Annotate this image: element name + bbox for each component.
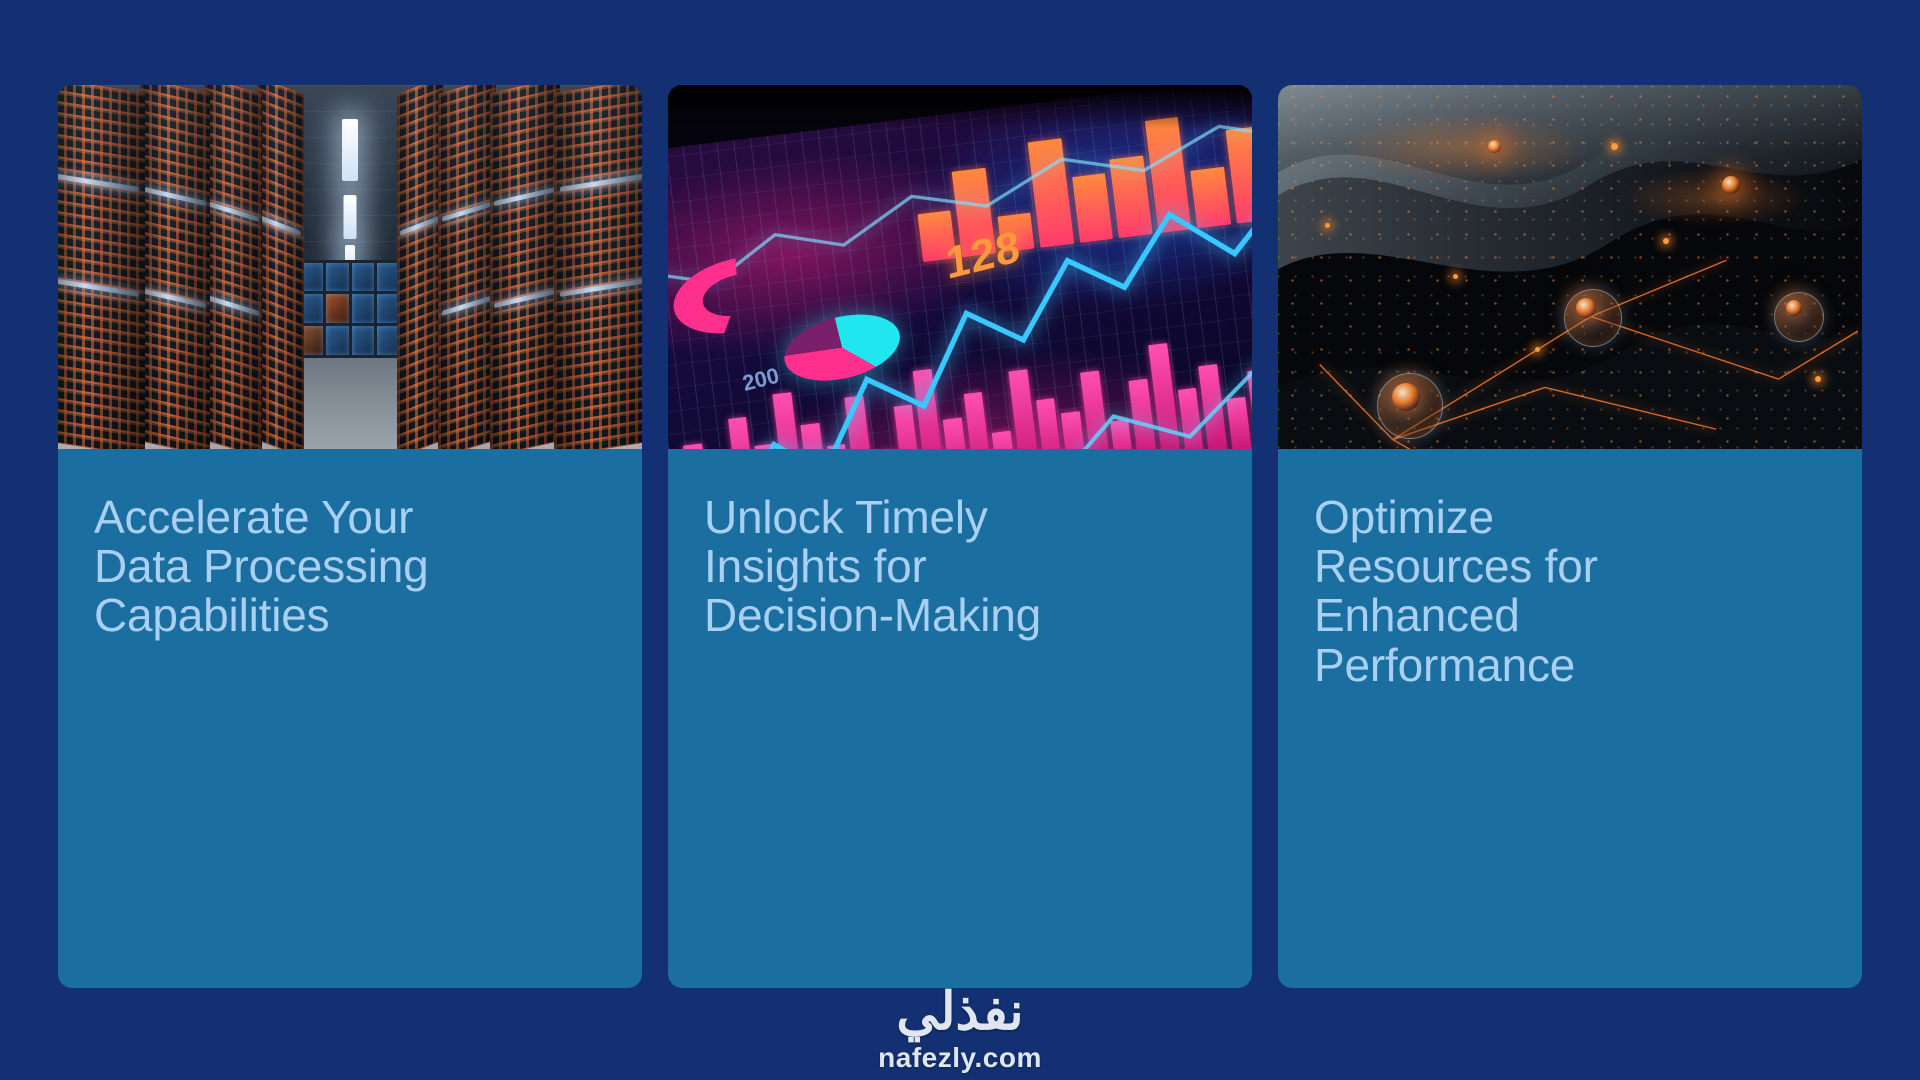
monitor-screen [300, 294, 323, 323]
server-rack [397, 85, 444, 449]
node-glow [1488, 140, 1501, 153]
card-title: Unlock Timely Insights for Decision-Maki… [704, 493, 1216, 641]
analytics-dashboard-scene: 128 V52 200 [668, 85, 1252, 449]
card-grid: Accelerate Your Data Processing Capabili… [58, 85, 1862, 988]
ceiling-lamp-icon [344, 195, 357, 239]
server-rack [438, 85, 496, 449]
node-glow [1722, 176, 1740, 194]
server-rack [490, 85, 560, 449]
card-image-network-nodes [1278, 85, 1862, 449]
ceiling-lamp-icon [342, 119, 358, 181]
card-body: Unlock Timely Insights for Decision-Maki… [668, 449, 1252, 988]
card-insights[interactable]: 128 V52 200 Unlock Timely Insights for D… [668, 85, 1252, 988]
monitor-screen [352, 263, 375, 292]
dashboard-plane: 128 V52 200 [668, 85, 1252, 449]
card-title: Optimize Resources for Enhanced Performa… [1314, 493, 1826, 690]
monitor-screen [326, 294, 349, 323]
watermark-arabic-text: نفذلي [878, 986, 1042, 1038]
watermark: نفذلي nafezly.com [878, 986, 1042, 1072]
monitor-screen [300, 263, 323, 292]
network-scene [1278, 85, 1862, 449]
monitor-screen [352, 294, 375, 323]
server-rack [58, 85, 146, 449]
screen-bezel [668, 85, 1252, 129]
node-glow [1786, 300, 1802, 316]
server-rack [204, 85, 262, 449]
card-title: Accelerate Your Data Processing Capabili… [94, 493, 606, 641]
card-image-data-center [58, 85, 642, 449]
card-optimize[interactable]: Optimize Resources for Enhanced Performa… [1278, 85, 1862, 988]
particle-field [1278, 85, 1862, 449]
card-body: Accelerate Your Data Processing Capabili… [58, 449, 642, 988]
network-node-sphere [1564, 289, 1622, 347]
card-body: Optimize Resources for Enhanced Performa… [1278, 449, 1862, 988]
watermark-domain-text: nafezly.com [878, 1044, 1042, 1072]
server-rack [554, 85, 642, 449]
card-image-analytics-dashboard: 128 V52 200 [668, 85, 1252, 449]
server-rack [257, 85, 304, 449]
card-accelerate[interactable]: Accelerate Your Data Processing Capabili… [58, 85, 642, 988]
node-glow [1576, 298, 1596, 318]
server-rack [140, 85, 210, 449]
monitor-screen [326, 263, 349, 292]
data-center-scene [58, 85, 642, 449]
spark-particle [1535, 347, 1540, 352]
